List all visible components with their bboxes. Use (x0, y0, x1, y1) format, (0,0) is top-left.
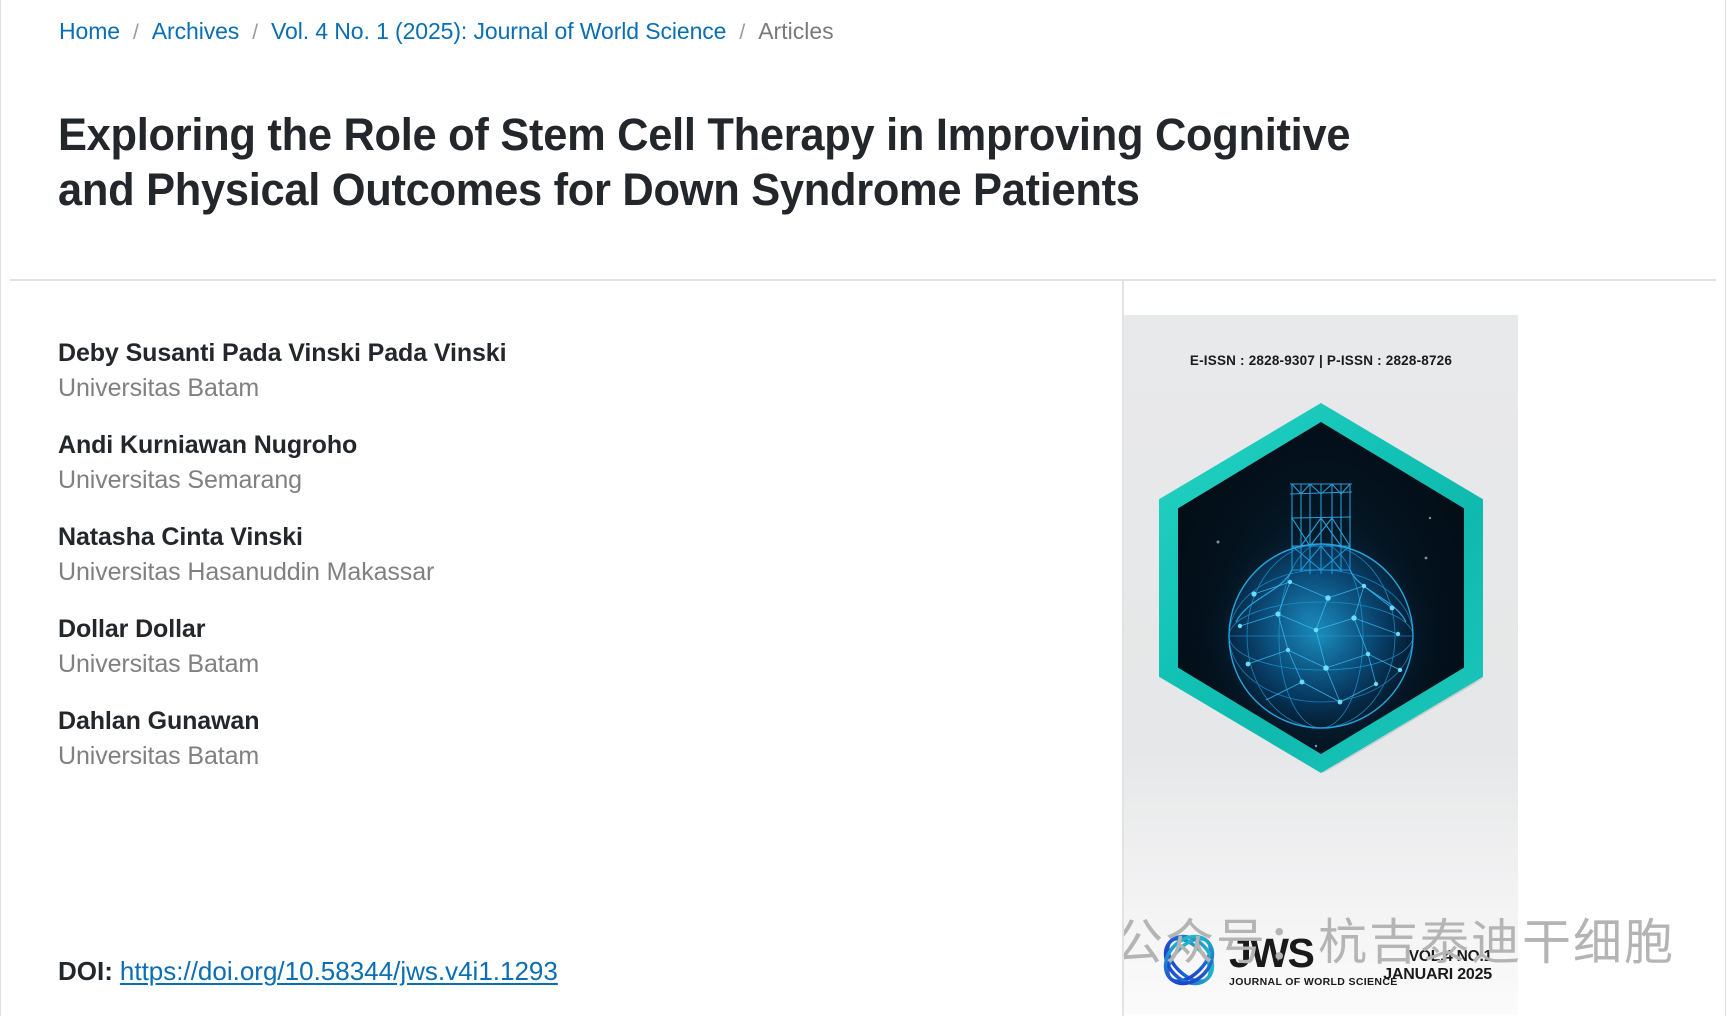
issue-cover-image[interactable]: E-ISSN : 2828-9307 | P-ISSN : 2828-8726 (1124, 315, 1518, 1015)
hexagon-border (1159, 403, 1483, 773)
author-name: Andi Kurniawan Nugroho (58, 428, 958, 463)
doi-row: DOI:https://doi.org/10.58344/jws.v4i1.12… (58, 956, 558, 987)
cover-issue-date: JANUARI 2025 (1383, 966, 1492, 985)
list-item: Deby Susanti Pada Vinski Pada Vinski Uni… (58, 336, 958, 406)
breadcrumb-item-current: Articles (758, 18, 833, 45)
breadcrumb-separator: / (739, 21, 745, 45)
author-name: Deby Susanti Pada Vinski Pada Vinski (58, 336, 958, 371)
author-list: Deby Susanti Pada Vinski Pada Vinski Uni… (58, 336, 958, 796)
page-title: Exploring the Role of Stem Cell Therapy … (58, 108, 1409, 218)
breadcrumb: Home / Archives / Vol. 4 No. 1 (2025): J… (59, 18, 834, 45)
breadcrumb-item-archives[interactable]: Archives (152, 18, 239, 45)
author-name: Natasha Cinta Vinski (58, 520, 958, 555)
issue-cover-panel: E-ISSN : 2828-9307 | P-ISSN : 2828-8726 (1124, 281, 1716, 1016)
author-name: Dahlan Gunawan (58, 704, 958, 739)
article-landing-page: Home / Archives / Vol. 4 No. 1 (2025): J… (0, 0, 1726, 1016)
breadcrumb-item-home[interactable]: Home (59, 18, 120, 45)
author-affiliation: Universitas Hasanuddin Makassar (58, 555, 958, 590)
author-affiliation: Universitas Batam (58, 371, 958, 406)
doi-label: DOI: (58, 956, 113, 986)
author-affiliation: Universitas Semarang (58, 463, 958, 498)
cover-issn-text: E-ISSN : 2828-9307 | P-ISSN : 2828-8726 (1124, 353, 1518, 368)
list-item: Dahlan Gunawan Universitas Batam (58, 704, 958, 774)
breadcrumb-item-issue[interactable]: Vol. 4 No. 1 (2025): Journal of World Sc… (271, 18, 726, 45)
cover-volume-number: VOL.4 NO.1 (1383, 948, 1492, 966)
jws-logo-title: JWS (1229, 933, 1398, 974)
jws-logo: JWS JOURNAL OF WORLD SCIENCE (1158, 929, 1398, 991)
list-item: Natasha Cinta Vinski Universitas Hasanud… (58, 520, 958, 590)
author-affiliation: Universitas Batam (58, 739, 958, 774)
jws-logo-subtitle: JOURNAL OF WORLD SCIENCE (1229, 977, 1398, 988)
hexagon-badge (1159, 403, 1483, 773)
doi-link[interactable]: https://doi.org/10.58344/jws.v4i1.1293 (120, 956, 558, 986)
cover-volume-info: VOL.4 NO.1 JANUARI 2025 (1383, 948, 1492, 985)
jws-orbital-icon (1158, 929, 1220, 991)
breadcrumb-separator: / (133, 21, 139, 45)
list-item: Andi Kurniawan Nugroho Universitas Semar… (58, 428, 958, 498)
author-affiliation: Universitas Batam (58, 647, 958, 682)
list-item: Dollar Dollar Universitas Batam (58, 612, 958, 682)
hexagon-interior (1178, 422, 1464, 754)
wireframe-flask-globe-icon (1178, 422, 1464, 754)
author-name: Dollar Dollar (58, 612, 958, 647)
breadcrumb-separator: / (252, 21, 258, 45)
